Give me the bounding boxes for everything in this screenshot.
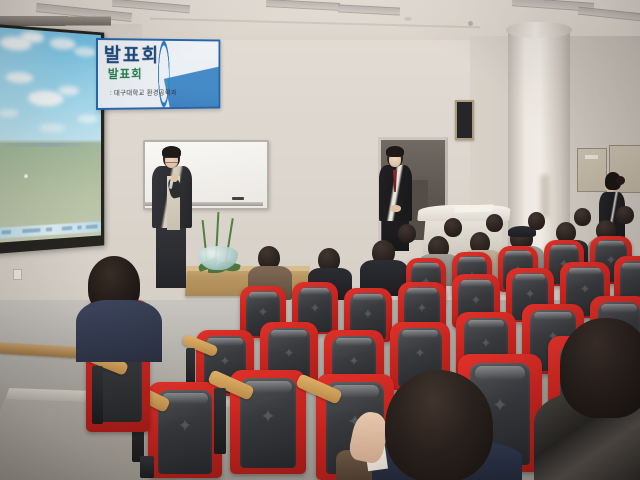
audience-head bbox=[528, 212, 545, 230]
seat-logo: ✦ bbox=[492, 396, 508, 415]
orchid-bloom bbox=[220, 228, 230, 238]
seat-arm-post bbox=[214, 388, 226, 454]
suited-man-hands bbox=[390, 205, 401, 212]
foreground-person-hair bbox=[560, 318, 640, 418]
seat-logo: ✦ bbox=[525, 287, 536, 300]
seat-logo: ✦ bbox=[417, 301, 428, 314]
event-banner: 발표회 발표회 : 대구대학교 환경공학과 bbox=[96, 38, 220, 110]
foreground-person-hair bbox=[385, 370, 493, 480]
audience-head bbox=[616, 206, 634, 224]
seat-logo: ✦ bbox=[310, 301, 321, 314]
ceiling-vent bbox=[404, 17, 412, 21]
wall-panel-label bbox=[585, 155, 598, 159]
presenter-hand bbox=[171, 174, 178, 182]
seat-logo: ✦ bbox=[415, 346, 426, 359]
orchid-bloom bbox=[224, 214, 236, 226]
audience-head bbox=[444, 218, 462, 237]
seat-leg bbox=[140, 456, 154, 478]
photo-scene: 발표회 발표회 : 대구대학교 환경공학과 bbox=[0, 0, 640, 480]
banner-blur-overlay bbox=[98, 40, 219, 108]
seat-arm-post bbox=[92, 366, 103, 424]
seat-logo: ✦ bbox=[260, 407, 275, 425]
orchid-bloom bbox=[204, 216, 216, 228]
wall-speaker-icon bbox=[455, 100, 474, 140]
lectern-papers bbox=[455, 204, 494, 212]
wall-outlet bbox=[13, 269, 22, 280]
suited-man-hair bbox=[386, 146, 404, 157]
presenter-legs bbox=[156, 226, 186, 288]
orchid-bloom bbox=[234, 224, 245, 235]
projection-screen bbox=[0, 24, 104, 254]
screen-glare bbox=[0, 27, 101, 243]
column-capital bbox=[506, 22, 572, 38]
seat-logo: ✦ bbox=[580, 282, 591, 295]
audience-head bbox=[486, 214, 503, 232]
column-smudge bbox=[540, 175, 549, 217]
ceiling-sensor bbox=[468, 21, 473, 26]
foreground-person-body bbox=[76, 300, 162, 362]
seat-logo: ✦ bbox=[349, 354, 360, 367]
orchid-bloom bbox=[196, 232, 207, 243]
projector-screen-roller bbox=[0, 16, 111, 26]
seat-logo: ✦ bbox=[284, 346, 295, 359]
seat-logo: ✦ bbox=[178, 417, 192, 434]
whiteboard-marker bbox=[232, 197, 244, 200]
seat-logo: ✦ bbox=[471, 293, 482, 306]
eyeglasses-icon bbox=[165, 157, 178, 163]
seat-logo: ✦ bbox=[258, 305, 269, 318]
standing-woman-hair-bun bbox=[616, 176, 625, 185]
audience-head bbox=[398, 224, 416, 243]
seat-logo: ✦ bbox=[220, 354, 231, 367]
seat-logo: ✦ bbox=[363, 307, 374, 320]
seat-logo: ✦ bbox=[481, 336, 492, 349]
audience-head bbox=[574, 208, 591, 226]
